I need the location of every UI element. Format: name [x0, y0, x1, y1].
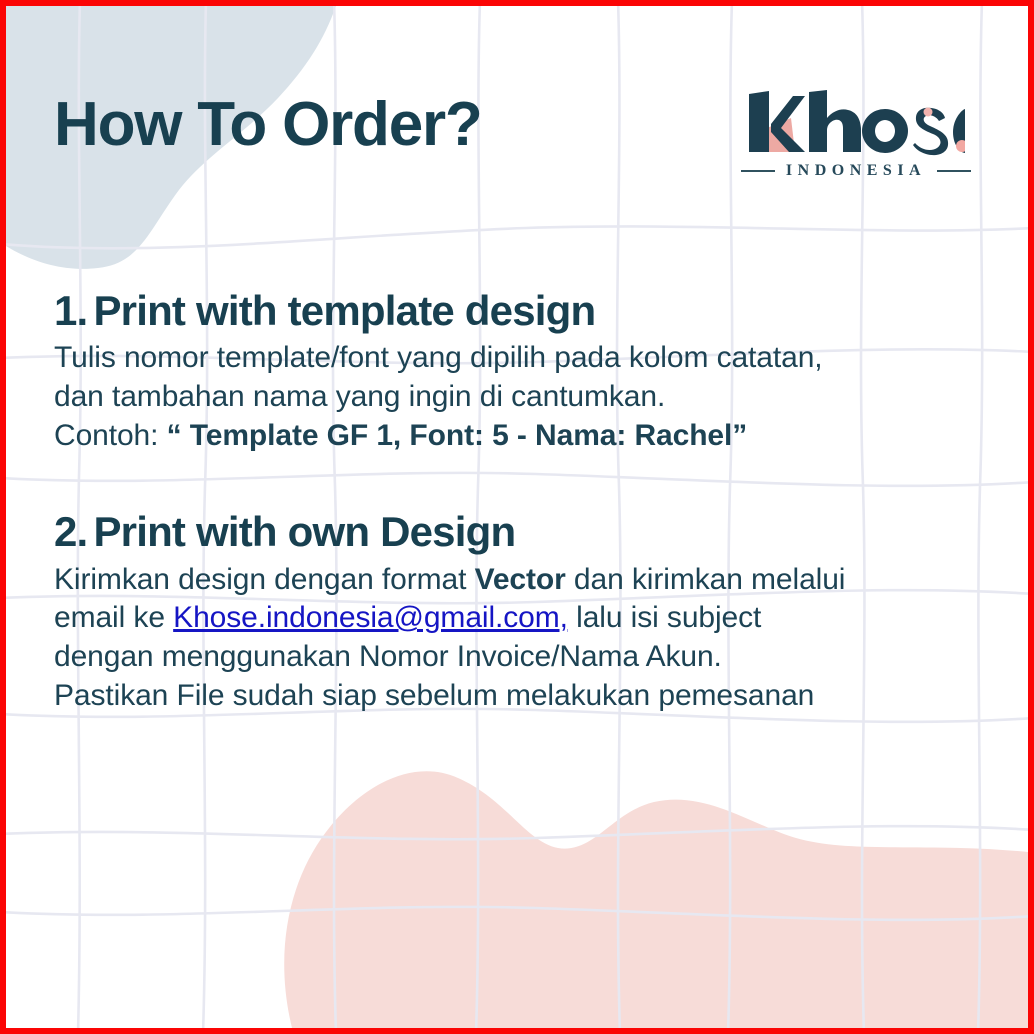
- khose-wordmark-icon: [747, 88, 965, 160]
- section-2-line-2-suffix: lalu isi subject: [568, 601, 761, 634]
- brand-logo: INDONESIA: [740, 88, 972, 180]
- section-1-example-value: “ Template GF 1, Font: 5 - Nama: Rachel”: [167, 419, 748, 452]
- section-2-line-3: dengan menggunakan Nomor Invoice/Nama Ak…: [54, 638, 994, 677]
- section-1-title: Print with template design: [93, 287, 595, 334]
- page-title: How To Order?: [54, 94, 482, 156]
- section-1-body: Tulis nomor template/font yang dipilih p…: [54, 339, 994, 455]
- section-1-line-2: dan tambahan nama yang ingin di cantumka…: [54, 378, 994, 417]
- logo-wordmark: [740, 88, 972, 160]
- section-2-number: 2.: [54, 508, 87, 555]
- section-step-2: 2.Print with own Design Kirimkan design …: [54, 509, 994, 715]
- section-2-line-2: email ke Khose.indonesia@gmail.com, lalu…: [54, 599, 994, 638]
- section-1-line-3: Contoh: “ Template GF 1, Font: 5 - Nama:…: [54, 417, 994, 456]
- section-2-line-1-prefix: Kirimkan design dengan format: [54, 563, 475, 596]
- poster-canvas: How To Order?: [0, 0, 1034, 1034]
- logo-subtitle-row: INDONESIA: [740, 162, 972, 180]
- poster-content: How To Order?: [6, 6, 1028, 1028]
- section-1-example-label: Contoh:: [54, 419, 167, 452]
- logo-rule-left: [741, 170, 775, 172]
- logo-subtitle: INDONESIA: [786, 162, 926, 180]
- section-2-line-2-prefix: email ke: [54, 601, 173, 634]
- section-2-heading: 2.Print with own Design: [54, 509, 994, 554]
- section-2-format-keyword: Vector: [475, 563, 566, 596]
- section-2-title: Print with own Design: [93, 508, 515, 555]
- section-2-line-1: Kirimkan design dengan format Vector dan…: [54, 561, 994, 600]
- logo-rule-right: [937, 170, 971, 172]
- logo-dot-pink-small-icon: [924, 108, 933, 117]
- section-2-line-1-suffix: dan kirimkan melalui: [566, 563, 846, 596]
- instruction-sections: 1.Print with template design Tulis nomor…: [54, 288, 994, 716]
- section-step-1: 1.Print with template design Tulis nomor…: [54, 288, 994, 455]
- section-1-line-1: Tulis nomor template/font yang dipilih p…: [54, 339, 994, 378]
- section-2-line-4: Pastikan File sudah siap sebelum melakuk…: [54, 677, 994, 716]
- email-link[interactable]: Khose.indonesia@gmail.com,: [173, 601, 568, 634]
- section-1-heading: 1.Print with template design: [54, 288, 994, 333]
- logo-letter-h: [809, 90, 861, 152]
- poster-header: How To Order?: [6, 6, 1028, 216]
- section-1-number: 1.: [54, 287, 87, 334]
- section-2-body: Kirimkan design dengan format Vector dan…: [54, 561, 994, 716]
